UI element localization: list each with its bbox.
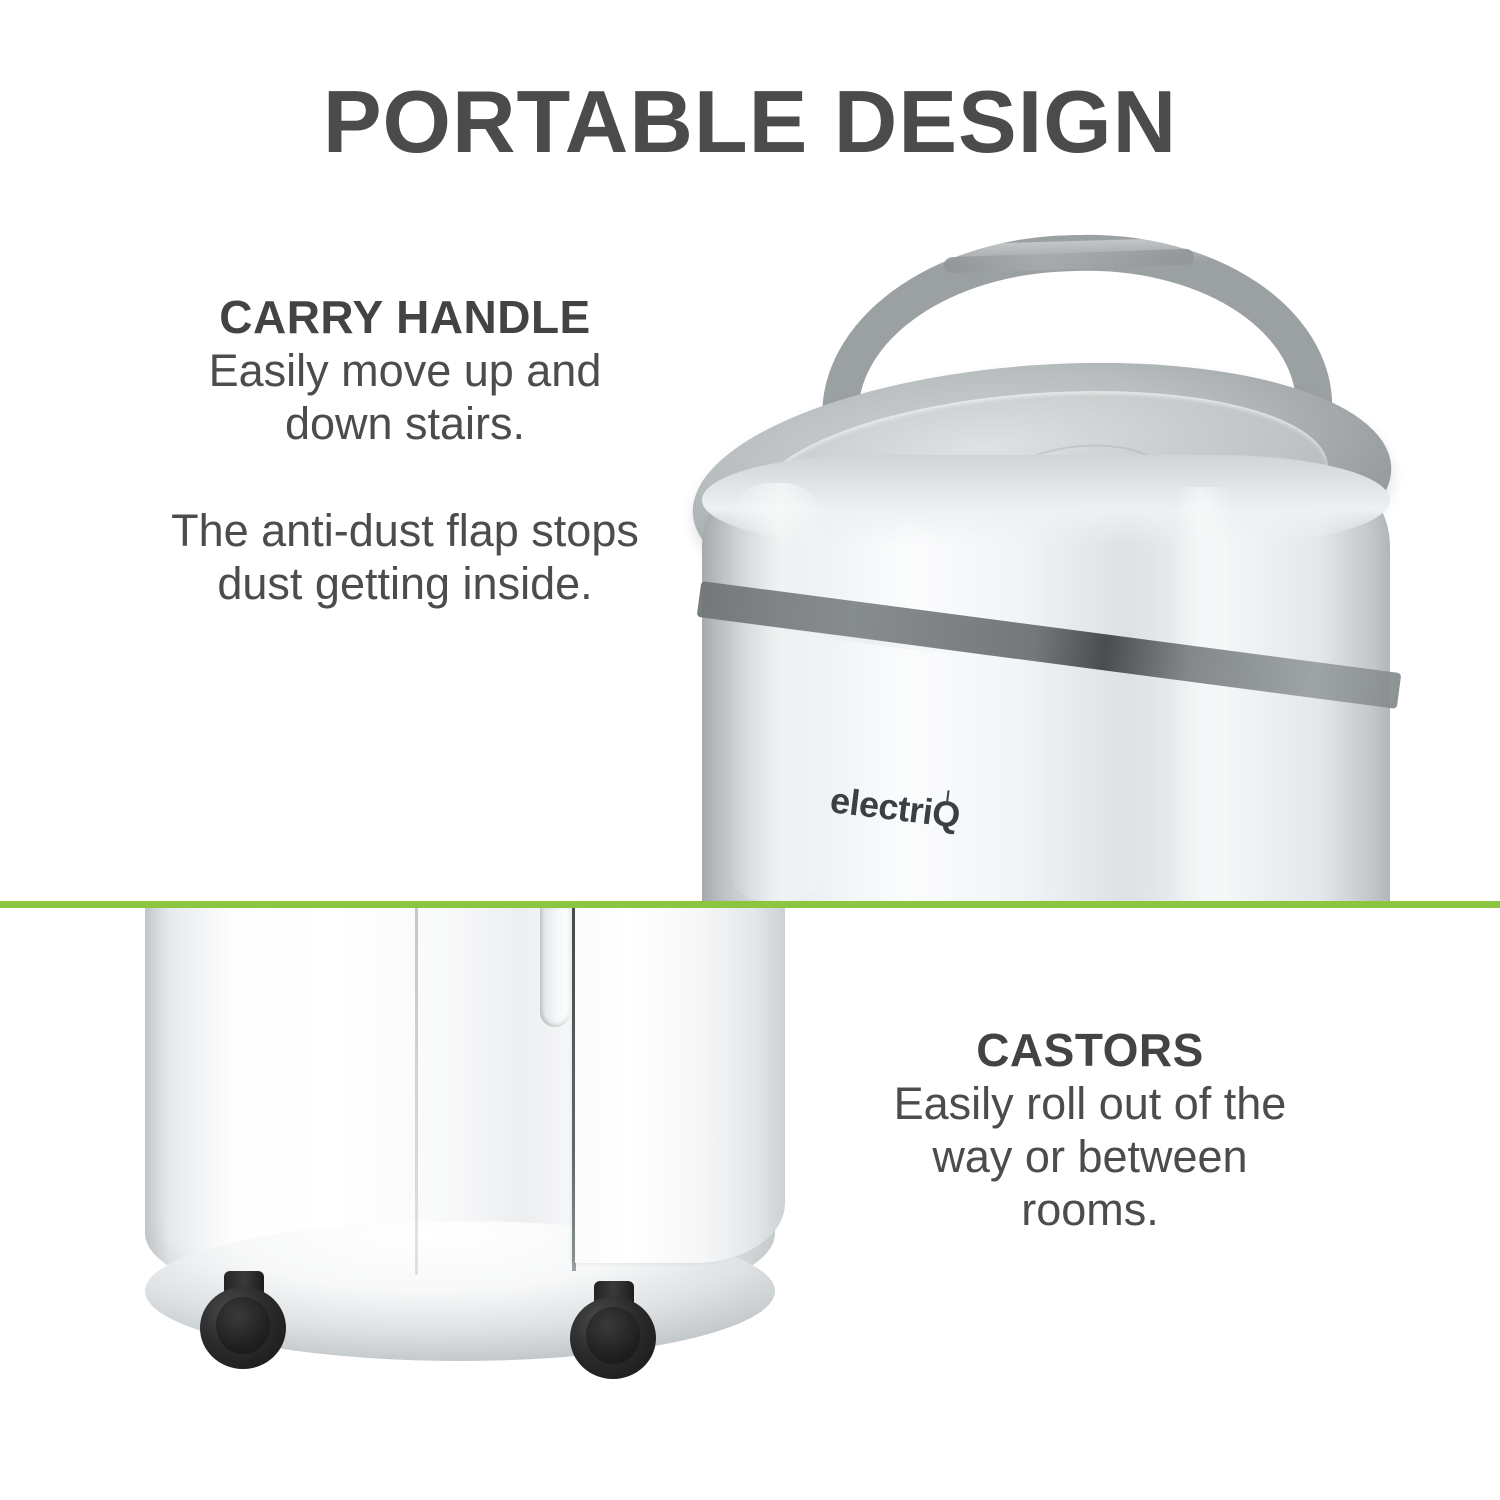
castor-wheel-left — [200, 1271, 286, 1369]
callout-castors: CASTORS Easily roll out of the way or be… — [890, 1025, 1290, 1236]
green-divider — [0, 901, 1500, 908]
callout-carry-handle-heading: CARRY HANDLE — [165, 292, 645, 344]
castor-wheel-right-disc — [570, 1297, 656, 1379]
page-title: PORTABLE DESIGN — [0, 78, 1500, 166]
product-body-upper: electriQ — [702, 477, 1390, 905]
callout-carry-handle: CARRY HANDLE Easily move up and down sta… — [165, 292, 645, 610]
base-panel-seam — [415, 903, 418, 1275]
base-highlight — [205, 907, 315, 1277]
callout-castors-body: Easily roll out of the way or between ro… — [890, 1077, 1290, 1236]
callout-anti-dust-flap-body: The anti-dust flap stops dust getting in… — [165, 504, 645, 610]
divider-shadow — [0, 908, 1500, 911]
water-tank-grip-handle — [540, 907, 570, 1027]
brand-logo-text: electri — [828, 779, 935, 832]
infographic-page: PORTABLE DESIGN electriQ — [0, 0, 1500, 1500]
water-tank-door — [575, 903, 785, 1263]
castor-wheel-left-disc — [200, 1287, 286, 1369]
brand-logo-power-q: Q — [930, 792, 962, 837]
callout-carry-handle-body: Easily move up and down stairs. — [165, 344, 645, 450]
body-highlight-left — [728, 483, 824, 903]
callout-castors-heading: CASTORS — [890, 1025, 1290, 1077]
brand-logo: electriQ — [828, 779, 962, 837]
castor-wheel-right — [570, 1281, 656, 1379]
body-highlight-right — [1172, 487, 1232, 905]
product-image-bottom — [120, 903, 800, 1403]
product-image-top: electriQ — [660, 225, 1420, 905]
